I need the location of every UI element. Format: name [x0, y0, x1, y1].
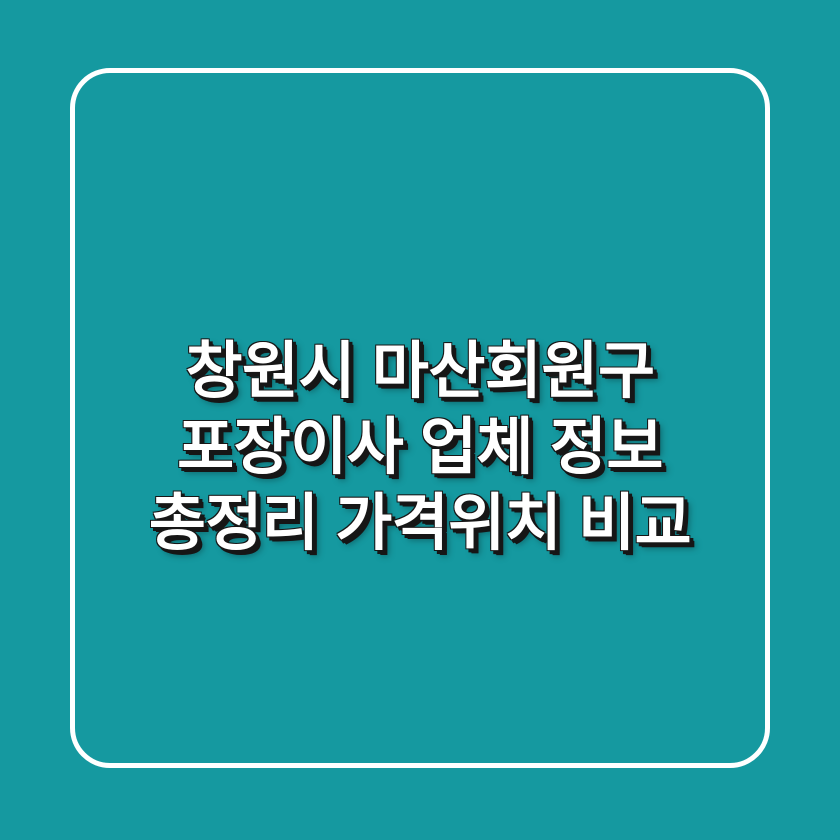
- banner-canvas: 창원시 마산회원구 포장이사 업체 정보 총정리 가격위치 비교: [0, 0, 840, 840]
- headline-line-2: 포장이사 업체 정보: [0, 410, 840, 486]
- headline-line-1: 창원시 마산회원구: [0, 334, 840, 410]
- headline-block: 창원시 마산회원구 포장이사 업체 정보 총정리 가격위치 비교: [0, 0, 840, 840]
- headline-line-3: 총정리 가격위치 비교: [0, 486, 840, 562]
